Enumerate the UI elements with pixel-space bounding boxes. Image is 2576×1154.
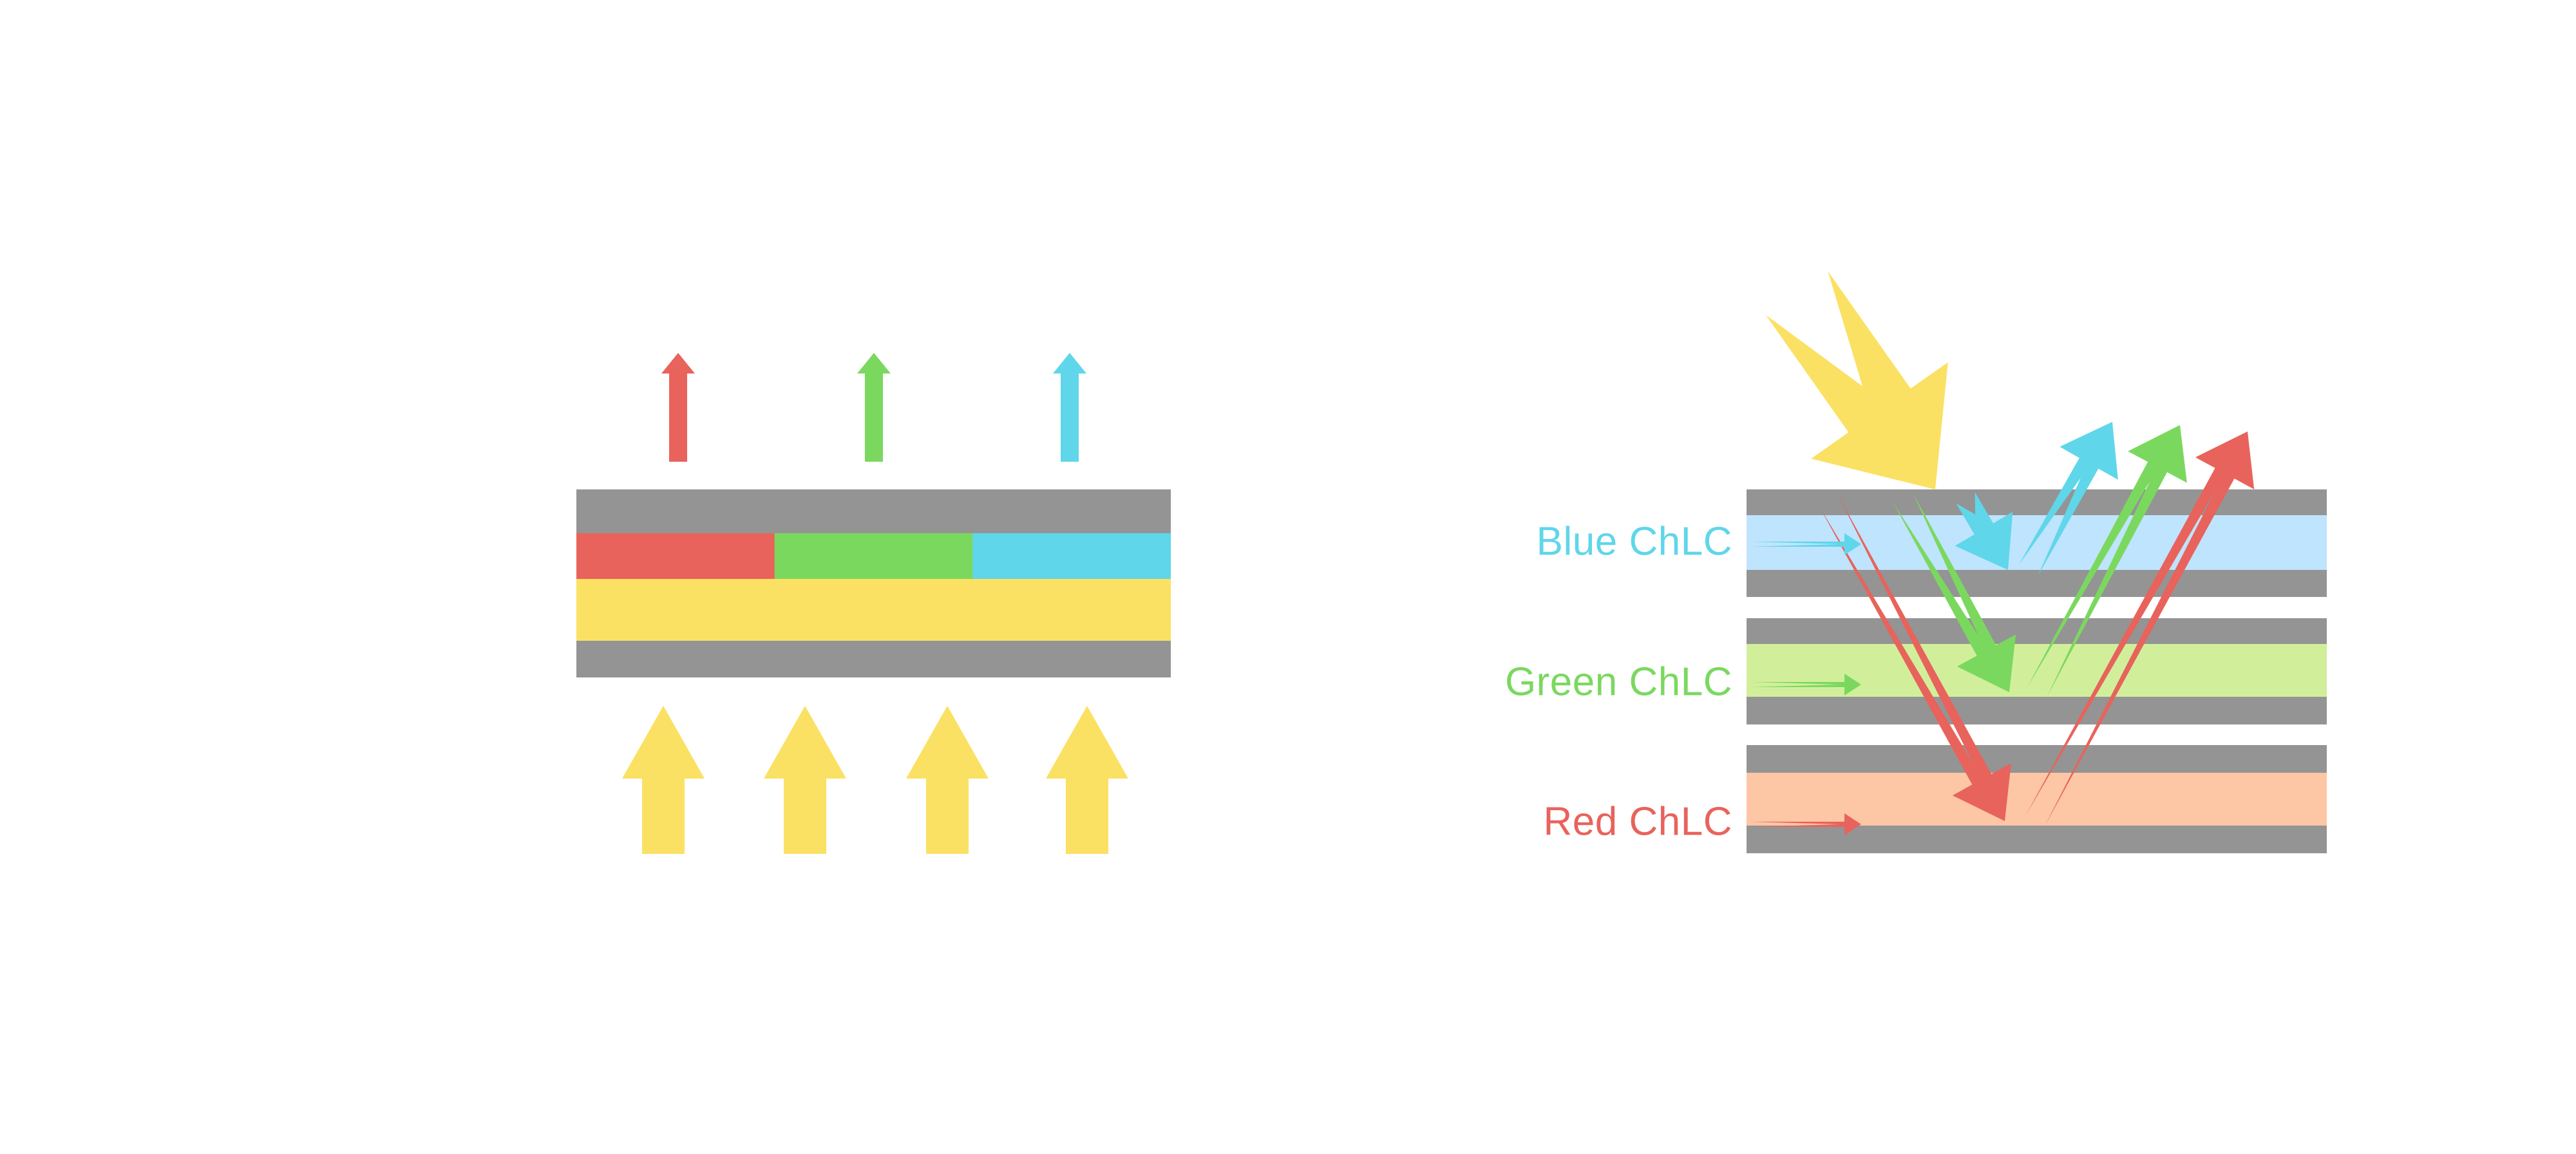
- left-stack-group: [576, 489, 1171, 677]
- red-chlc-layer: [1747, 773, 2327, 826]
- red-emitter-segment: [576, 533, 775, 579]
- green-chlc-label: Green ChLC: [1505, 659, 1732, 704]
- green-emitter-segment: [775, 533, 974, 579]
- gap-band-2: [1747, 724, 2327, 745]
- emitted-red-arrow: [661, 353, 695, 462]
- red-chlc-label: Red ChLC: [1544, 799, 1732, 844]
- bottom-electrode-band: [576, 641, 1171, 677]
- backlight-arrow-3: [906, 706, 989, 854]
- emitted-arrows-group: [661, 353, 1086, 462]
- backlight-arrow-2: [764, 706, 846, 854]
- green-top-alignment-band: [1747, 618, 2327, 644]
- backlight-arrows-group: [622, 706, 1128, 854]
- backlight-arrow-1: [622, 706, 705, 854]
- emitted-green-arrow: [857, 353, 891, 462]
- red-top-alignment-band: [1747, 745, 2327, 773]
- blue-chlc-label: Blue ChLC: [1537, 519, 1732, 563]
- top-electrode-band: [576, 489, 1171, 533]
- red-bottom-alignment-band: [1747, 826, 2327, 853]
- diagram-root: Blue ChLC Green ChLC Red ChLC: [0, 0, 2576, 1154]
- green-bottom-alignment-band: [1747, 697, 2327, 724]
- left-panel-group: [576, 353, 1171, 854]
- incident-white-light-arrow: [1766, 271, 1948, 489]
- emitted-blue-arrow: [1053, 353, 1086, 462]
- blue-top-alignment-band: [1747, 489, 2327, 515]
- right-panel-group: Blue ChLC Green ChLC Red ChLC: [1505, 271, 2327, 853]
- blue-bottom-alignment-band: [1747, 570, 2327, 597]
- blue-emitter-segment: [972, 533, 1171, 579]
- figure-canvas: Blue ChLC Green ChLC Red ChLC: [0, 0, 2576, 1154]
- backlight-arrow-4: [1046, 706, 1128, 854]
- gap-band-1: [1747, 597, 2327, 618]
- yellow-backlight-band: [576, 579, 1171, 641]
